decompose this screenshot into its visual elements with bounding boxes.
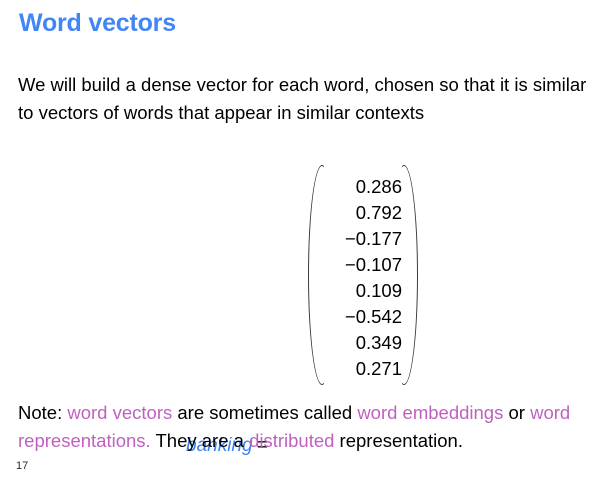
vector-value-list: 0.286 0.792 −0.177 −0.107 0.109 −0.542 0…: [322, 174, 402, 382]
note-text-segment: Note:: [18, 402, 67, 423]
column-vector: 0.286 0.792 −0.177 −0.107 0.109 −0.542 0…: [308, 165, 418, 387]
vector-value: −0.542: [322, 304, 402, 330]
vector-equation: banking = 0.286 0.792 −0.177 −0.107 0.10…: [0, 165, 608, 390]
vector-value: 0.349: [322, 330, 402, 356]
vector-value: 0.271: [322, 356, 402, 382]
vector-value: 0.792: [322, 200, 402, 226]
right-parenthesis-icon: [402, 165, 418, 387]
slide-number: 17: [16, 460, 28, 472]
vector-value: −0.177: [322, 226, 402, 252]
page-title: Word vectors: [19, 9, 176, 38]
note-paragraph: Note: word vectors are sometimes called …: [18, 399, 603, 455]
vector-value: 0.286: [322, 174, 402, 200]
vector-value: −0.107: [322, 252, 402, 278]
vector-value: 0.109: [322, 278, 402, 304]
note-highlight-word-vectors: word vectors: [67, 402, 172, 423]
note-text-segment: They are a: [151, 430, 249, 451]
note-text-segment: representation.: [334, 430, 463, 451]
note-highlight-word-embeddings: word embeddings: [357, 402, 503, 423]
note-text-segment: are sometimes called: [172, 402, 357, 423]
intro-paragraph: We will build a dense vector for each wo…: [18, 71, 598, 127]
note-highlight-distributed: distributed: [249, 430, 334, 451]
note-text-segment: or: [503, 402, 530, 423]
